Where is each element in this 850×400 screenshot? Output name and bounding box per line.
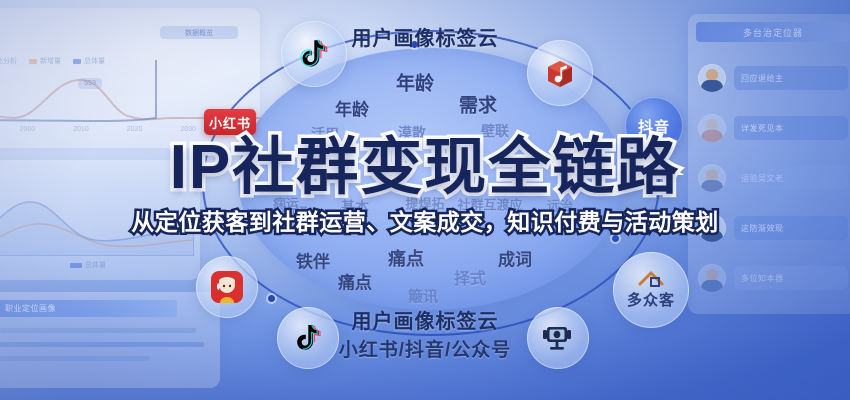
word-cloud-tag: 年龄	[396, 69, 434, 96]
word-cloud-tag: 择式	[454, 265, 486, 289]
word-cloud-tag: 成词	[498, 246, 532, 271]
avatar-suit-icon	[698, 64, 726, 92]
bg-chat-bubble: 多位知本器	[734, 266, 848, 290]
legend-item-total: 总体量	[70, 260, 106, 270]
bottom-caption: 小红书/抖音/公众号	[0, 335, 850, 362]
badge-xiaohongshu[interactable]: 小红书	[204, 109, 256, 135]
page-title: IP社群变现全链路	[0, 134, 850, 202]
bg-chart-x-axis: 1990 2000 2010 2020 2030	[0, 126, 196, 133]
avatar-red-icon	[210, 270, 244, 304]
ring-label-top: 用户画像标签云	[0, 22, 850, 51]
bg-chat-row: 回应退给主	[698, 62, 848, 100]
avatar-dim-icon	[698, 264, 726, 292]
word-cloud-tag: 痛点	[388, 245, 424, 271]
music-cube-icon	[542, 55, 578, 91]
headline-group: IP社群变现全链路 从定位获客到社群运营、文案成交，知识付费与活动策划	[0, 134, 850, 236]
word-cloud-tag: 痛点	[338, 269, 372, 294]
word-cloud-tag: 年龄	[335, 96, 369, 121]
page-subtitle: 从定位获客到社群运营、文案成交，知识付费与活动策划	[0, 208, 850, 236]
bg-chat-bubble: 回应退给主	[734, 66, 848, 90]
house-arrow-icon	[638, 270, 664, 288]
ring-dot-right	[612, 235, 619, 242]
ring-dot-bottom-left	[268, 295, 275, 302]
bg-mid-legend: 总体量	[70, 260, 106, 270]
word-cloud-tag: 簸讯	[408, 286, 438, 307]
word-cloud-tag: 需求	[459, 91, 497, 118]
ring-label-bottom: 用户画像标签云	[0, 305, 850, 334]
poster-canvas: 数据概览 占比分析 新增量 总体量 553 1990 2000 2010 202…	[0, 0, 850, 400]
bg-chat-row: 多位知本器	[698, 262, 848, 300]
word-cloud-tag: 铁伴	[296, 248, 330, 273]
